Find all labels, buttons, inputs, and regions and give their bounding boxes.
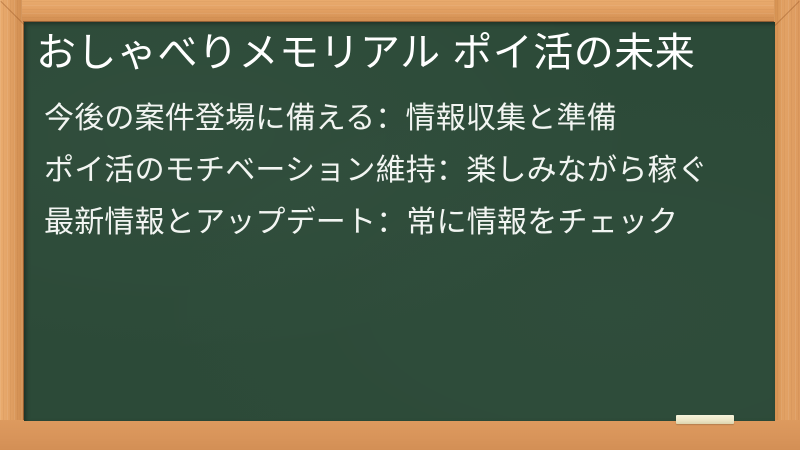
frame-top-rail bbox=[0, 0, 800, 22]
bullet-item-2: ポイ活のモチベーション維持：楽しみながら稼ぐ bbox=[44, 156, 760, 186]
bullet-list: 今後の案件登場に備える：情報収集と準備 ポイ活のモチベーション維持：楽しみながら… bbox=[44, 104, 760, 238]
bullet-item-3: 最新情報とアップデート：常に情報をチェック bbox=[44, 208, 760, 238]
blackboard-slide: おしゃべりメモリアル ポイ活の未来 今後の案件登場に備える：情報収集と準備 ポイ… bbox=[0, 0, 800, 450]
chalkboard-surface: おしゃべりメモリアル ポイ活の未来 今後の案件登場に備える：情報収集と準備 ポイ… bbox=[24, 22, 775, 421]
frame-left-rail bbox=[0, 0, 22, 450]
chalk-stick-icon bbox=[676, 415, 734, 424]
frame-right-rail bbox=[774, 0, 800, 450]
bullet-item-1: 今後の案件登場に備える：情報収集と準備 bbox=[44, 104, 760, 134]
slide-title: おしゃべりメモリアル ポイ活の未来 bbox=[36, 30, 762, 77]
frame-bottom-ledge bbox=[0, 420, 800, 450]
